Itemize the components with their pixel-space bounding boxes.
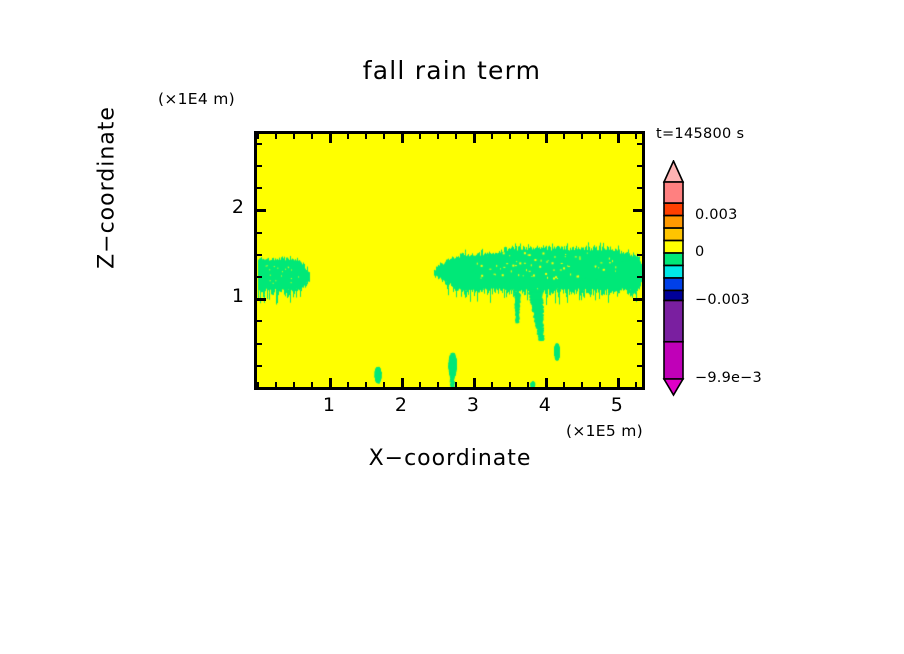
tick-mark	[637, 320, 642, 322]
tick-mark	[257, 209, 266, 212]
tick-mark	[617, 378, 620, 387]
tick-mark	[365, 134, 367, 139]
tick-mark	[257, 343, 262, 345]
tick-mark	[275, 134, 277, 139]
tick-mark	[527, 382, 529, 387]
tick-mark	[455, 134, 457, 139]
tick-mark	[437, 134, 439, 139]
colorbar-tick-label: 0	[695, 244, 704, 260]
x-tick-label: 3	[458, 394, 488, 416]
tick-mark	[347, 134, 349, 139]
tick-mark	[581, 382, 583, 387]
x-tick-label: 5	[602, 394, 632, 416]
colorbar-band	[664, 182, 683, 203]
tick-mark	[637, 343, 642, 345]
tick-mark	[637, 187, 642, 189]
y-axis-title: Z−coordinate	[95, 78, 120, 298]
tick-mark	[509, 382, 511, 387]
page-title: fall rain term	[0, 56, 904, 85]
tick-mark	[633, 298, 642, 301]
tick-mark	[257, 232, 262, 234]
colorbar-tick-label: −9.9e−3	[695, 370, 762, 386]
time-annotation: t=145800 s	[656, 126, 744, 142]
tick-mark	[401, 378, 404, 387]
colorbar-band	[664, 241, 683, 253]
tick-mark	[383, 382, 385, 387]
colorbar-band	[664, 342, 683, 379]
colorbar-band	[664, 290, 683, 300]
tick-mark	[419, 382, 421, 387]
colorbar	[661, 160, 687, 397]
tick-mark	[257, 298, 266, 301]
tick-mark	[637, 254, 642, 256]
tick-mark	[637, 165, 642, 167]
tick-mark	[563, 134, 565, 139]
tick-mark	[401, 134, 404, 143]
colorbar-band	[664, 216, 683, 228]
colorbar-under-arrow	[664, 379, 683, 395]
tick-mark	[637, 387, 642, 389]
tick-mark	[437, 382, 439, 387]
tick-mark	[329, 134, 332, 143]
tick-mark	[473, 378, 476, 387]
tick-mark	[257, 134, 259, 139]
x-axis-title: X−coordinate	[254, 446, 646, 471]
plot-area	[254, 131, 645, 390]
tick-mark	[545, 378, 548, 387]
y-tick-label: 1	[214, 285, 244, 307]
tick-mark	[491, 382, 493, 387]
tick-mark	[599, 134, 601, 139]
y-axis-units-label: (×1E4 m)	[158, 90, 235, 108]
colorbar-band	[664, 253, 683, 265]
figure-canvas: fall rain term (×1E4 m) (×1E5 m) t=14580…	[0, 0, 904, 654]
colorbar-over-arrow	[664, 161, 683, 182]
tick-mark	[637, 365, 642, 367]
tick-mark	[633, 209, 642, 212]
tick-mark	[293, 134, 295, 139]
tick-mark	[635, 134, 637, 139]
colorbar-band	[664, 266, 683, 278]
tick-mark	[491, 134, 493, 139]
tick-mark	[637, 143, 642, 145]
tick-mark	[257, 143, 262, 145]
tick-mark	[257, 387, 262, 389]
tick-mark	[293, 382, 295, 387]
tick-mark	[581, 134, 583, 139]
tick-mark	[311, 134, 313, 139]
x-tick-label: 2	[386, 394, 416, 416]
tick-mark	[257, 320, 262, 322]
tick-mark	[275, 382, 277, 387]
tick-mark	[257, 276, 262, 278]
tick-mark	[455, 382, 457, 387]
x-tick-label: 4	[530, 394, 560, 416]
tick-mark	[599, 382, 601, 387]
colorbar-band	[664, 301, 683, 342]
tick-mark	[365, 382, 367, 387]
x-tick-label: 1	[314, 394, 344, 416]
colorbar-band	[664, 278, 683, 290]
tick-mark	[257, 254, 262, 256]
tick-mark	[257, 365, 262, 367]
y-tick-label: 2	[214, 196, 244, 218]
tick-mark	[257, 187, 262, 189]
tick-mark	[509, 134, 511, 139]
x-axis-units-label: (×1E5 m)	[566, 422, 643, 440]
colorbar-band	[664, 228, 683, 240]
colorbar-tick-label: 0.003	[695, 207, 738, 223]
tick-mark	[563, 382, 565, 387]
tick-mark	[637, 276, 642, 278]
tick-mark	[545, 134, 548, 143]
tick-mark	[347, 382, 349, 387]
tick-mark	[329, 378, 332, 387]
tick-mark	[617, 134, 620, 143]
tick-mark	[311, 382, 313, 387]
colorbar-band	[664, 203, 683, 215]
tick-mark	[419, 134, 421, 139]
colorbar-tick-label: −0.003	[695, 292, 750, 308]
tick-mark	[637, 232, 642, 234]
tick-mark	[257, 165, 262, 167]
tick-mark	[473, 134, 476, 143]
heatmap-field	[257, 134, 642, 387]
tick-mark	[527, 134, 529, 139]
tick-mark	[383, 134, 385, 139]
